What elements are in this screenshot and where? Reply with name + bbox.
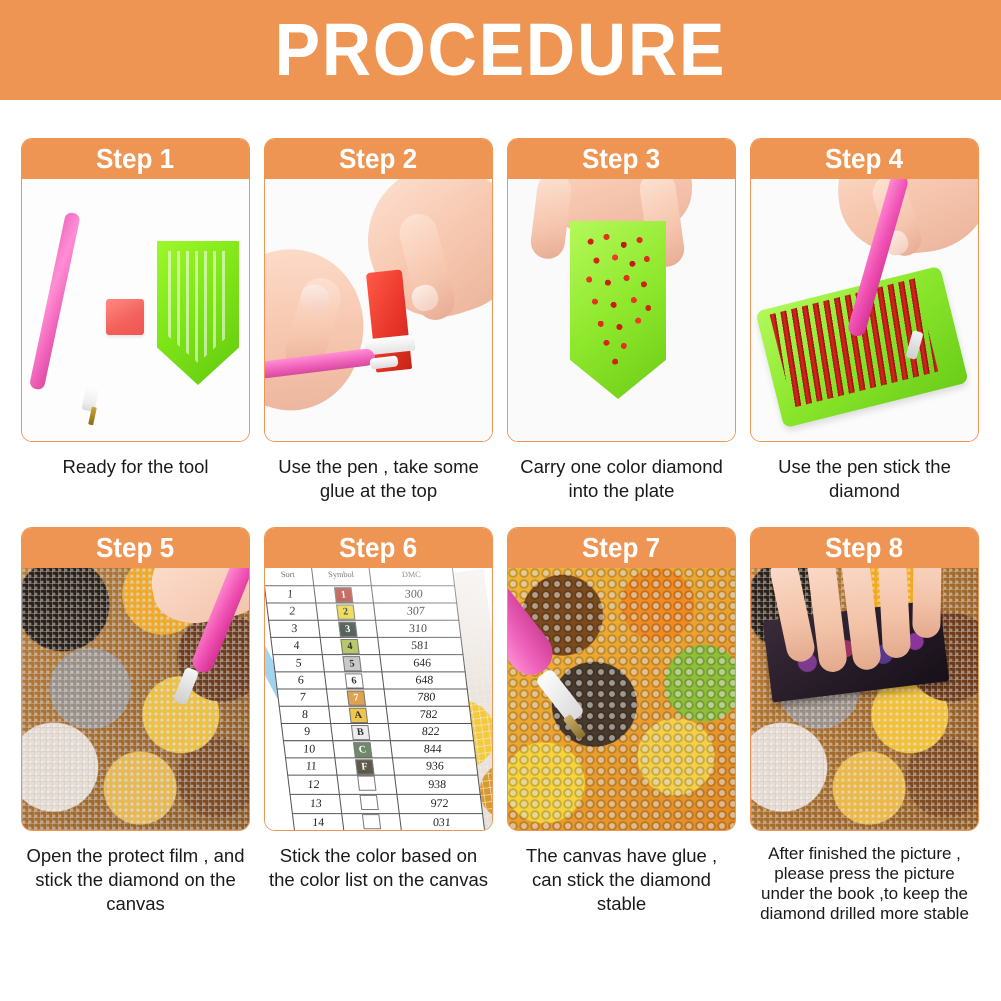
table-row: 2 2 307 [267,603,459,620]
symbol-swatch: A [349,707,368,722]
chart-sheet-icon: Sort Symbol DMC 1 1 [265,568,492,830]
symbol-swatch: C [353,742,372,757]
row-symbol: 3 [318,620,377,637]
step-cell-6: Step 6 [264,527,493,924]
step-card-8: Step 8 [750,527,979,831]
symbol-swatch: F [355,759,374,774]
photo-tools-pen-glue-tray [22,179,249,441]
step-card-7: Step 7 [507,527,736,831]
step-header-label-1: Step 1 [96,144,174,174]
row-index: 11 [286,758,338,775]
table-row: 1 1 300 [265,586,457,603]
step-header-5: Step 5 [21,527,250,568]
row-dmc: 646 [379,655,465,672]
row-symbol: 6 [324,672,383,689]
table-row: 10 C 844 [283,741,475,758]
symbol-swatch [357,776,376,791]
step-caption-3: Carry one color diamond into the plate [507,455,736,503]
row-dmc: 307 [373,603,459,620]
table-row: 7 7 780 [277,689,469,706]
photo-hands-pressing-board-on-finished-picture [751,568,978,830]
steps-grid: Step 1 Ready for the tool [21,138,980,924]
photo-hands-pen-taking-glue [265,179,492,441]
table-row: 8 A 782 [279,706,471,723]
step-card-4: Step 4 [750,138,979,442]
symbol-swatch: B [351,724,370,739]
table-row: 14 031 [292,814,484,830]
page-header-banner: PROCEDURE [0,0,1001,100]
step-cell-1: Step 1 Ready for the tool [21,138,250,503]
step-image-6: Sort Symbol DMC 1 1 [265,568,492,830]
step-header-2: Step 2 [264,138,493,179]
step-image-8 [751,568,978,830]
row-symbol [342,814,401,830]
step-caption-7: The canvas have glue , can stick the dia… [507,844,736,916]
procedure-infographic: PROCEDURE Step 1 [0,0,1001,1001]
row-index: 1 [265,586,316,603]
round-diamond-canvas-icon [508,568,735,830]
step-header-4: Step 4 [750,138,979,179]
step-header-6: Step 6 [264,527,493,568]
row-dmc: 581 [377,637,463,654]
color-chart-grid: Sort Symbol DMC 1 1 [265,568,485,830]
row-index: 4 [271,637,323,654]
row-index: 7 [277,689,329,706]
step-header-label-2: Step 2 [339,144,417,174]
step-caption-2: Use the pen , take some glue at the top [264,455,493,503]
photo-pen-picking-diamond-from-tray [751,179,978,441]
photo-color-chart-legend-on-canvas: Sort Symbol DMC 1 1 [265,568,492,830]
step-card-5: Step 5 [21,527,250,831]
step-header-label-8: Step 8 [825,533,903,563]
step-caption-8: After finished the picture , please pres… [750,844,979,924]
symbol-swatch [362,814,381,829]
step-header-label-7: Step 7 [582,533,660,563]
step-header-8: Step 8 [750,527,979,568]
step-caption-4: Use the pen stick the diamond [750,455,979,503]
row-index: 10 [283,741,335,758]
color-chart-table: Sort Symbol DMC 1 1 [265,568,488,830]
step-image-4 [751,179,978,441]
row-symbol: C [333,741,392,758]
step-cell-2: Step 2 U [264,138,493,503]
row-dmc: 936 [392,758,478,775]
step-header-label-6: Step 6 [339,533,417,563]
photo-hand-holding-tray-with-red-diamonds [508,179,735,441]
step-image-5 [22,568,249,830]
row-dmc: 822 [388,723,474,740]
step-card-1: Step 1 [21,138,250,442]
row-symbol: B [331,723,390,740]
finger-icon [877,568,911,659]
step-image-1 [22,179,249,441]
row-dmc: 300 [371,586,457,603]
pink-pen-icon [29,211,81,390]
row-symbol: A [329,706,388,723]
step-card-6: Step 6 [264,527,493,831]
row-dmc: 310 [375,620,461,637]
step-header-7: Step 7 [507,527,736,568]
step-card-2: Step 2 [264,138,493,442]
symbol-swatch: 1 [334,587,353,602]
table-row: 3 3 310 [269,620,461,637]
symbol-swatch: 4 [340,638,359,653]
table-row: 12 938 [288,775,480,794]
step-caption-5: Open the protect film , and stick the di… [21,844,250,916]
step-image-7 [508,568,735,830]
row-index: 5 [273,655,325,672]
row-symbol: 4 [320,637,379,654]
photo-closeup-round-diamonds-with-pen [508,568,735,830]
row-symbol: 2 [316,603,375,620]
row-symbol [337,775,396,794]
step-cell-8: Step 8 [750,527,979,924]
step-cell-3: Step 3 Carry one color diamond into the … [507,138,736,503]
row-index: 12 [288,775,340,794]
row-index: 2 [267,603,319,620]
table-header-row: Sort Symbol DMC [265,568,455,586]
row-symbol: 1 [314,586,373,603]
row-symbol: 7 [327,689,386,706]
step-cell-7: Step 7 The canvas have glue , can stick … [507,527,736,924]
row-index: 3 [269,620,321,637]
row-index: 9 [281,723,333,740]
symbol-swatch: 6 [344,673,363,688]
step-cell-5: Step 5 Open the protect film , and stick… [21,527,250,924]
step-header-label-5: Step 5 [96,533,174,563]
row-dmc: 782 [386,706,472,723]
table-row: 13 972 [290,794,482,813]
step-image-3 [508,179,735,441]
symbol-swatch: 5 [342,656,361,671]
column-header-dmc: DMC [368,568,455,586]
row-symbol: F [335,758,394,775]
color-chart-body: 1 1 300 2 2 307 [265,586,485,830]
table-row: 6 6 648 [275,672,467,689]
step-card-3: Step 3 [507,138,736,442]
thumb-icon [529,179,573,261]
round-beads-icon [508,568,735,830]
row-symbol [339,794,398,813]
row-index: 6 [275,672,327,689]
step-image-2 [265,179,492,441]
row-dmc: 938 [394,775,480,794]
symbol-swatch: 2 [336,604,355,619]
photo-pen-placing-diamond-on-canvas [22,568,249,830]
row-symbol: 5 [322,655,381,672]
row-index: 13 [290,794,342,813]
step-header-label-3: Step 3 [582,144,660,174]
row-index: 8 [279,706,331,723]
column-header-symbol: Symbol [311,568,371,586]
step-header-3: Step 3 [507,138,736,179]
finger-icon [912,568,942,638]
row-dmc: 780 [384,689,470,706]
row-dmc: 972 [397,794,483,813]
symbol-swatch [359,795,378,810]
step-header-label-4: Step 4 [825,144,903,174]
step-caption-6: Stick the color based on the color list … [264,844,493,892]
column-header-sort: Sort [265,568,314,586]
row-dmc: 648 [381,672,467,689]
symbol-swatch: 3 [338,621,357,636]
row-dmc: 844 [390,741,476,758]
finger-icon [806,568,848,674]
table-row: 9 B 822 [281,723,473,740]
table-row: 5 5 646 [273,655,465,672]
step-header-1: Step 1 [21,138,250,179]
row-index: 14 [292,814,344,830]
step-cell-4: Step 4 Use the pen stick the diamond [750,138,979,503]
glue-square-icon [106,299,144,335]
symbol-swatch: 7 [346,690,365,705]
table-row: 4 4 581 [271,637,463,654]
page-title: PROCEDURE [275,13,727,87]
row-dmc: 031 [399,814,485,830]
table-row: 11 F 936 [286,758,478,775]
step-caption-1: Ready for the tool [21,455,250,479]
